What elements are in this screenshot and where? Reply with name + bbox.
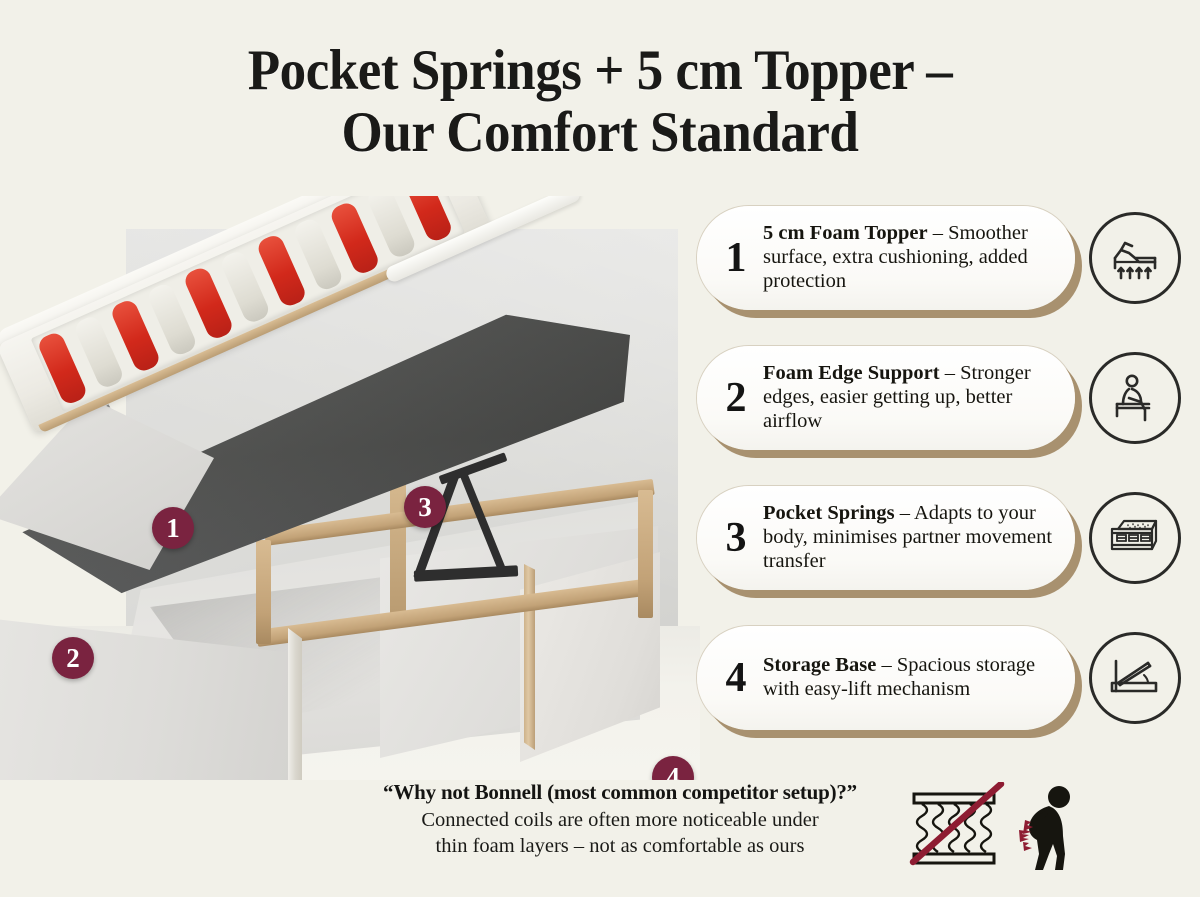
- feature-card-list: 1 5 cm Foam Topper – Smoother surface, e…: [697, 206, 1097, 766]
- feature-heading-3: Pocket Springs: [763, 502, 895, 524]
- footer-note: “Why not Bonnell (most common competitor…: [300, 780, 940, 859]
- infographic-canvas: Pocket Springs + 5 cm Topper – Our Comfo…: [0, 0, 1200, 897]
- lifting-bed-base-icon: [1089, 632, 1181, 724]
- title-line-2: Our Comfort Standard: [42, 102, 1158, 164]
- mechanism-foot-bar: [414, 565, 518, 581]
- feature-pill-4[interactable]: 4 Storage Base – Spacious storage with e…: [697, 626, 1075, 730]
- title-line-1: Pocket Springs + 5 cm Topper –: [248, 39, 952, 102]
- feature-number-1: 1: [713, 237, 759, 279]
- feature-text-2: Foam Edge Support – Stronger edges, easi…: [759, 350, 1075, 446]
- footer-line-1: Connected coils are often more noticeabl…: [300, 808, 940, 834]
- feature-dash-3: –: [895, 502, 914, 524]
- person-with-back-pain-icon: [1005, 784, 1085, 872]
- bed-product-photo: 1 2 3 4: [0, 196, 700, 780]
- feature-text-1: 5 cm Foam Topper – Smoother surface, ext…: [759, 210, 1075, 306]
- page-title: Pocket Springs + 5 cm Topper – Our Comfo…: [42, 40, 1158, 163]
- feature-card-3[interactable]: 3 Pocket Springs – Adapts to your body, …: [697, 486, 1097, 608]
- feature-heading-1: 5 cm Foam Topper: [763, 222, 928, 244]
- feature-dash-4: –: [876, 654, 897, 676]
- frame-left-post: [256, 540, 271, 644]
- photo-badge-3: 3: [404, 486, 446, 528]
- feature-heading-4: Storage Base: [763, 654, 876, 676]
- footer-question: “Why not Bonnell (most common competitor…: [300, 780, 940, 805]
- photo-badge-2: 2: [52, 637, 94, 679]
- footer-line-2: thin foam layers – not as comfortable as…: [300, 834, 940, 860]
- feature-dash-2: –: [940, 362, 961, 384]
- feature-text-3: Pocket Springs – Adapts to your body, mi…: [759, 490, 1075, 586]
- feature-pill-1[interactable]: 1 5 cm Foam Topper – Smoother surface, e…: [697, 206, 1075, 310]
- feature-card-2[interactable]: 2 Foam Edge Support – Stronger edges, ea…: [697, 346, 1097, 468]
- person-sitting-on-bed-edge-icon: [1089, 352, 1181, 444]
- mattress-spring-unit-icon: [1089, 492, 1181, 584]
- mechanism-arm-right: [460, 473, 509, 578]
- feature-pill-3[interactable]: 3 Pocket Springs – Adapts to your body, …: [697, 486, 1075, 590]
- feature-number-2: 2: [713, 377, 759, 419]
- person-reclining-with-upward-arrows-icon: [1089, 212, 1181, 304]
- lift-mechanism: [408, 464, 588, 604]
- feature-card-1[interactable]: 1 5 cm Foam Topper – Smoother surface, e…: [697, 206, 1097, 328]
- base-front-edge: [288, 628, 302, 780]
- red-slash-icon: [905, 782, 1009, 868]
- feature-pill-2[interactable]: 2 Foam Edge Support – Stronger edges, ea…: [697, 346, 1075, 450]
- feature-number-4: 4: [713, 657, 759, 699]
- feature-card-4[interactable]: 4 Storage Base – Spacious storage with e…: [697, 626, 1097, 748]
- photo-badge-1: 1: [152, 507, 194, 549]
- feature-heading-2: Foam Edge Support: [763, 362, 940, 384]
- feature-dash-1: –: [928, 222, 949, 244]
- feature-number-3: 3: [713, 517, 759, 559]
- feature-text-4: Storage Base – Spacious storage with eas…: [759, 642, 1075, 714]
- frame-right-post: [638, 490, 653, 618]
- footer-icon-group: [905, 782, 1090, 874]
